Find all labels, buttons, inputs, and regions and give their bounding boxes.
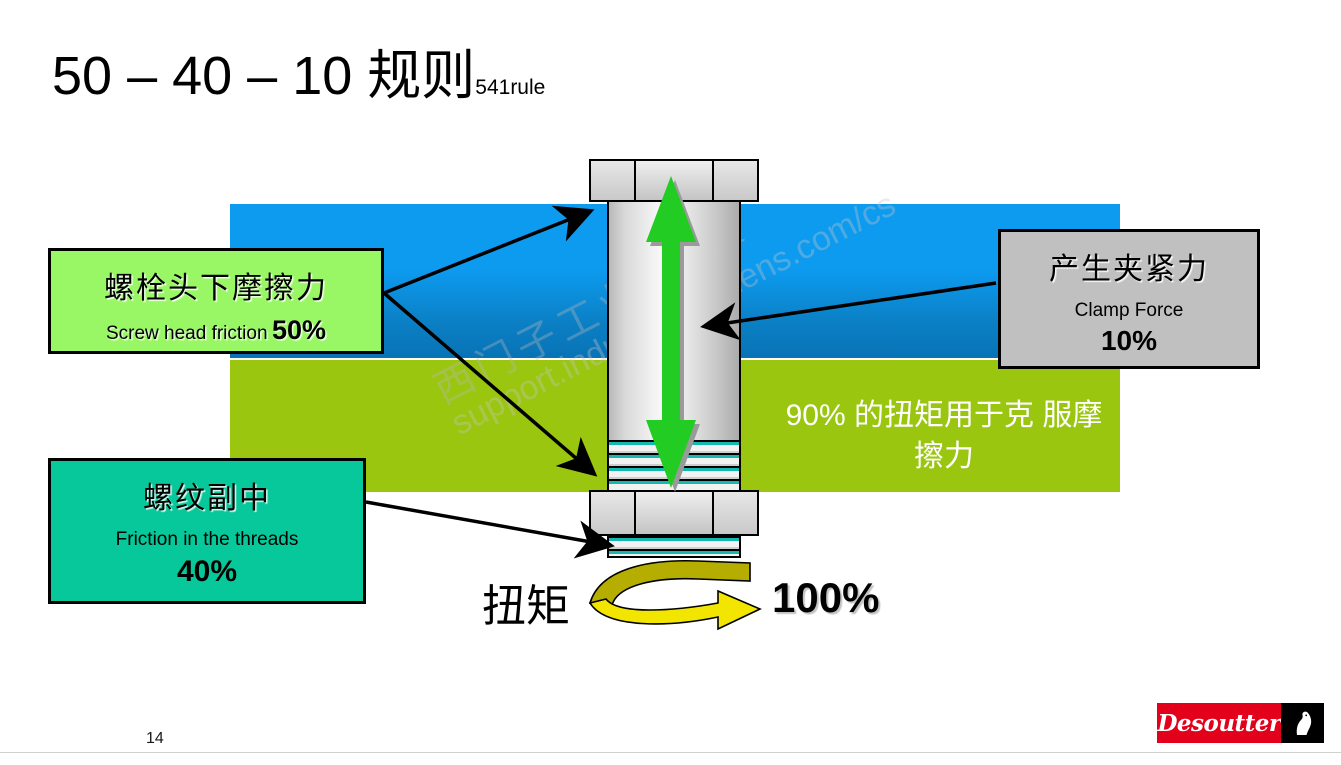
green-plate-note-line1: 的扭矩用于克 xyxy=(854,399,1034,432)
callout-head-friction-en: Screw head friction xyxy=(106,323,268,344)
horse-head-mark-icon xyxy=(1281,703,1324,743)
green-plate-note: 90% 的扭矩用于克 服摩擦力 xyxy=(784,396,1104,477)
callout-clamp-force-percent: 10% xyxy=(1001,325,1257,357)
callout-clamp-force: 产生夹紧力 Clamp Force 10% xyxy=(998,229,1260,369)
callout-clamp-force-cn: 产生夹紧力 xyxy=(1001,244,1257,288)
callout-head-friction-percent: 50% xyxy=(272,315,326,345)
brand-logo: Desoutter xyxy=(1157,703,1324,743)
slide-canvas: 50 – 40 – 10 规则541rule 西门子工业 找答案 support… xyxy=(0,0,1341,765)
torque-curved-arrow-icon xyxy=(578,555,788,635)
torque-percent: 100% xyxy=(772,574,879,622)
torque-label: 扭矩 xyxy=(482,570,570,634)
callout-clamp-force-en: Clamp Force xyxy=(1001,300,1257,322)
callout-head-friction-cn: 螺栓头下摩擦力 xyxy=(51,263,381,307)
arrow-head-friction-to-boltseat xyxy=(384,212,588,293)
brand-logo-wordmark: Desoutter xyxy=(1157,703,1281,743)
brand-logo-text: Desoutter xyxy=(1157,710,1280,737)
callout-head-friction-enline: Screw head friction 50% xyxy=(51,315,381,346)
callout-head-friction: 螺栓头下摩擦力 Screw head friction 50% xyxy=(48,248,384,354)
arrow-clamp-force-to-shank xyxy=(707,283,996,326)
callout-thread-friction-percent: 40% xyxy=(51,555,363,589)
green-plate-note-percent: 90% xyxy=(786,399,846,432)
arrow-head-friction-to-threads xyxy=(384,293,592,472)
callout-thread-friction: 螺纹副中 Friction in the threads 40% xyxy=(48,458,366,604)
callout-thread-friction-cn: 螺纹副中 xyxy=(51,473,363,517)
callout-thread-friction-en: Friction in the threads xyxy=(51,529,363,551)
connector-arrows xyxy=(0,0,1341,765)
arrow-thread-friction-to-threads xyxy=(366,502,608,545)
